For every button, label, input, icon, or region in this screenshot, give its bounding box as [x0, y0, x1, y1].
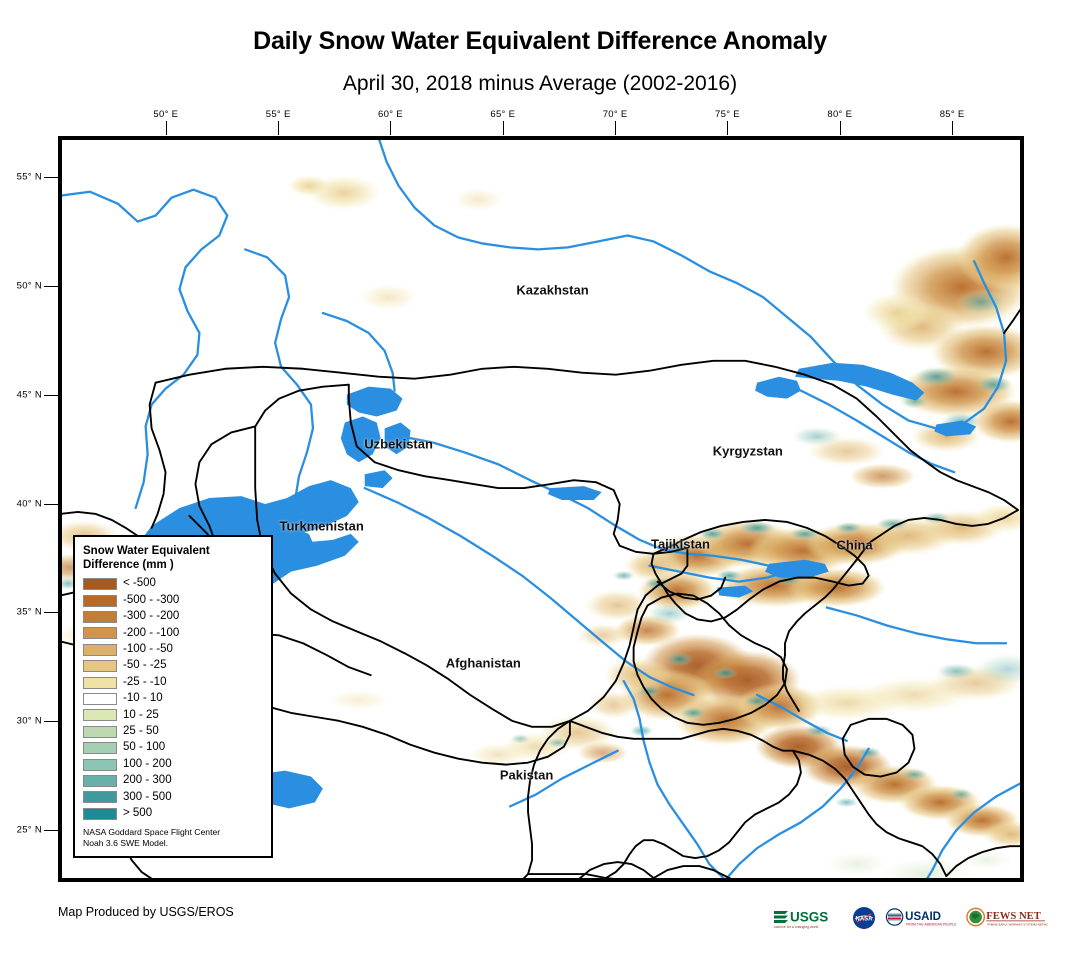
legend-label: -300 - -200 [123, 611, 179, 623]
svg-text:NASA: NASA [855, 917, 873, 923]
legend-panel[interactable]: Snow Water Equivalent Difference (mm ) <… [73, 535, 273, 858]
lon-tick [503, 121, 504, 135]
legend-row: -10 - 10 [83, 691, 263, 707]
lat-label: 45° N [6, 389, 42, 400]
legend-row: -300 - -200 [83, 609, 263, 625]
svg-text:USAID: USAID [905, 911, 941, 923]
legend-row: 10 - 25 [83, 707, 263, 723]
legend-row: 200 - 300 [83, 773, 263, 789]
legend-swatch [83, 627, 117, 639]
legend-swatch [83, 644, 117, 656]
legend-label: -200 - -100 [123, 628, 179, 640]
legend-swatch [83, 611, 117, 623]
legend-source-note: NASA Goddard Space Flight Center Noah 3.… [83, 827, 263, 850]
fewsnet-logo[interactable]: FEWS NET FAMINE EARLY WARNING SYSTEMS NE… [966, 905, 1048, 931]
lon-label: 70° E [603, 109, 628, 120]
usgs-logo[interactable]: USGS science for a changing world [773, 905, 843, 931]
legend-label: -10 - 10 [123, 693, 163, 705]
legend-row: 100 - 200 [83, 756, 263, 772]
lon-tick [727, 121, 728, 135]
legend-row: 300 - 500 [83, 789, 263, 805]
lat-tick [44, 504, 58, 505]
legend-row: -25 - -10 [83, 674, 263, 690]
lat-tick [44, 177, 58, 178]
lon-tick [166, 121, 167, 135]
lon-label: 80° E [827, 109, 852, 120]
lon-label: 75° E [715, 109, 740, 120]
legend-label: -100 - -50 [123, 644, 173, 656]
lat-tick [44, 721, 58, 722]
legend-swatch [83, 709, 117, 721]
legend-label: 50 - 100 [123, 742, 165, 754]
legend-swatch [83, 660, 117, 672]
legend-row: -100 - -50 [83, 642, 263, 658]
legend-label: 300 - 500 [123, 792, 172, 804]
lat-tick [44, 830, 58, 831]
legend-label: 200 - 300 [123, 775, 172, 787]
lon-tick [390, 121, 391, 135]
svg-text:science for a changing world: science for a changing world [774, 925, 818, 929]
legend-row: > 500 [83, 806, 263, 822]
legend-row: -500 - -300 [83, 592, 263, 608]
lat-tick [44, 286, 58, 287]
legend-label: 10 - 25 [123, 710, 159, 722]
legend-swatch [83, 595, 117, 607]
lon-label: 60° E [378, 109, 403, 120]
page-title: Daily Snow Water Equivalent Difference A… [0, 28, 1080, 56]
lon-label: 85° E [940, 109, 965, 120]
lat-label: 35° N [6, 607, 42, 618]
lat-label: 40° N [6, 498, 42, 509]
legend-label: 25 - 50 [123, 726, 159, 738]
legend-swatch [83, 791, 117, 803]
legend-row: -200 - -100 [83, 625, 263, 641]
page-subtitle: April 30, 2018 minus Average (2002-2016) [0, 72, 1080, 95]
legend-title-line1: Snow Water Equivalent [83, 544, 263, 558]
legend-row: < -500 [83, 576, 263, 592]
title-block: Daily Snow Water Equivalent Difference A… [0, 0, 1080, 95]
legend-swatch [83, 726, 117, 738]
svg-text:FEWS NET: FEWS NET [986, 911, 1041, 922]
legend-swatch [83, 742, 117, 754]
lon-tick [952, 121, 953, 135]
nasa-logo[interactable]: NASA [852, 905, 876, 931]
lon-tick [840, 121, 841, 135]
usaid-logo[interactable]: USAID FROM THE AMERICAN PEOPLE [885, 905, 957, 931]
lon-label: 65° E [490, 109, 515, 120]
lat-label: 50° N [6, 281, 42, 292]
legend-swatch [83, 677, 117, 689]
lat-label: 55° N [6, 172, 42, 183]
legend-row: -50 - -25 [83, 658, 263, 674]
legend-label: 100 - 200 [123, 759, 172, 771]
legend-swatch [83, 775, 117, 787]
legend-label: < -500 [123, 578, 156, 590]
lat-label: 25° N [6, 824, 42, 835]
legend-class-list: < -500-500 - -300-300 - -200-200 - -100-… [83, 576, 263, 822]
legend-swatch [83, 578, 117, 590]
logo-bar: USGS science for a changing world NASA U… [773, 905, 1048, 931]
legend-label: -50 - -25 [123, 660, 166, 672]
lon-tick [615, 121, 616, 135]
legend-swatch [83, 759, 117, 771]
svg-text:FROM THE AMERICAN PEOPLE: FROM THE AMERICAN PEOPLE [906, 923, 957, 927]
lon-tick [278, 121, 279, 135]
legend-title: Snow Water Equivalent Difference (mm ) [83, 544, 263, 572]
svg-text:USGS: USGS [790, 910, 828, 925]
legend-row: 50 - 100 [83, 740, 263, 756]
lon-label: 55° E [266, 109, 291, 120]
lat-label: 30° N [6, 716, 42, 727]
legend-label: > 500 [123, 808, 152, 820]
lat-tick [44, 395, 58, 396]
svg-text:FAMINE EARLY WARNING SYSTEMS N: FAMINE EARLY WARNING SYSTEMS NETWORK [987, 923, 1048, 927]
legend-label: -25 - -10 [123, 677, 166, 689]
lat-tick [44, 612, 58, 613]
legend-swatch [83, 808, 117, 820]
legend-swatch [83, 693, 117, 705]
legend-row: 25 - 50 [83, 724, 263, 740]
footer-credit: Map Produced by USGS/EROS [58, 905, 234, 919]
legend-label: -500 - -300 [123, 595, 179, 607]
legend-title-line2: Difference (mm ) [83, 558, 263, 572]
lon-label: 50° E [153, 109, 178, 120]
